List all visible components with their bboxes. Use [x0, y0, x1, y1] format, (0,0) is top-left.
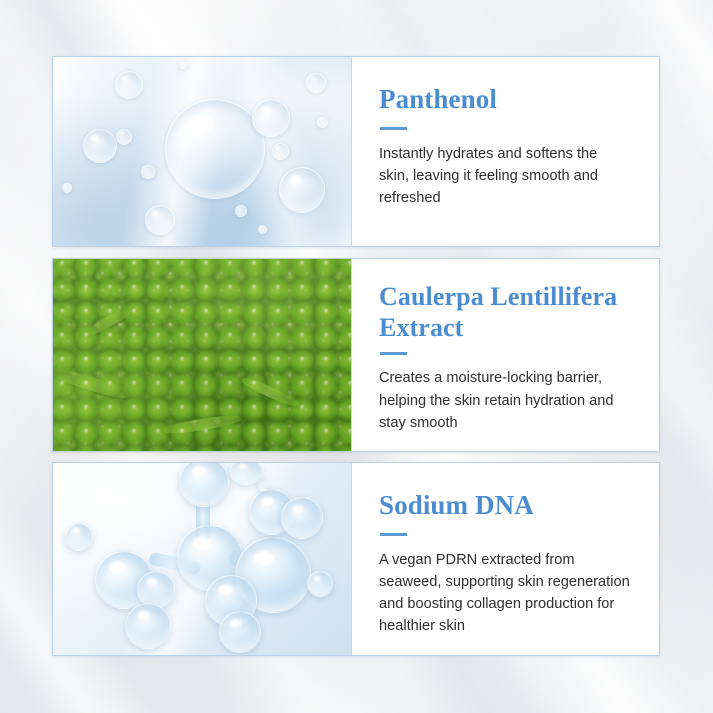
sea-grapes-image [53, 259, 352, 451]
ingredient-title: Sodium DNA [379, 490, 631, 522]
ingredient-card-panthenol[interactable]: Panthenol Instantly hydrates and softens… [52, 56, 660, 247]
ingredient-title: Panthenol [379, 84, 631, 116]
ingredient-title: Caulerpa Lentillifera Extract [379, 282, 631, 343]
ingredient-card-sodium-dna[interactable]: Sodium DNA A vegan PDRN extracted from s… [52, 462, 660, 656]
water-bubbles-image [53, 57, 352, 246]
title-divider [380, 127, 407, 130]
ingredient-card-list: Panthenol Instantly hydrates and softens… [52, 56, 660, 656]
title-divider [380, 352, 407, 355]
ingredient-text-panel: Panthenol Instantly hydrates and softens… [352, 57, 659, 246]
ingredient-text-panel: Caulerpa Lentillifera Extract Creates a … [352, 259, 659, 451]
title-divider [380, 533, 407, 536]
sea-grapes-shading [53, 259, 351, 451]
ingredient-description: Creates a moisture-locking barrier, help… [379, 367, 631, 434]
ingredient-text-panel: Sodium DNA A vegan PDRN extracted from s… [352, 463, 659, 655]
ingredient-card-caulerpa[interactable]: Caulerpa Lentillifera Extract Creates a … [52, 258, 660, 452]
ingredient-description: Instantly hydrates and softens the skin,… [379, 143, 631, 210]
ingredient-description: A vegan PDRN extracted from seaweed, sup… [379, 549, 631, 638]
molecule-spheres-image [53, 463, 352, 655]
